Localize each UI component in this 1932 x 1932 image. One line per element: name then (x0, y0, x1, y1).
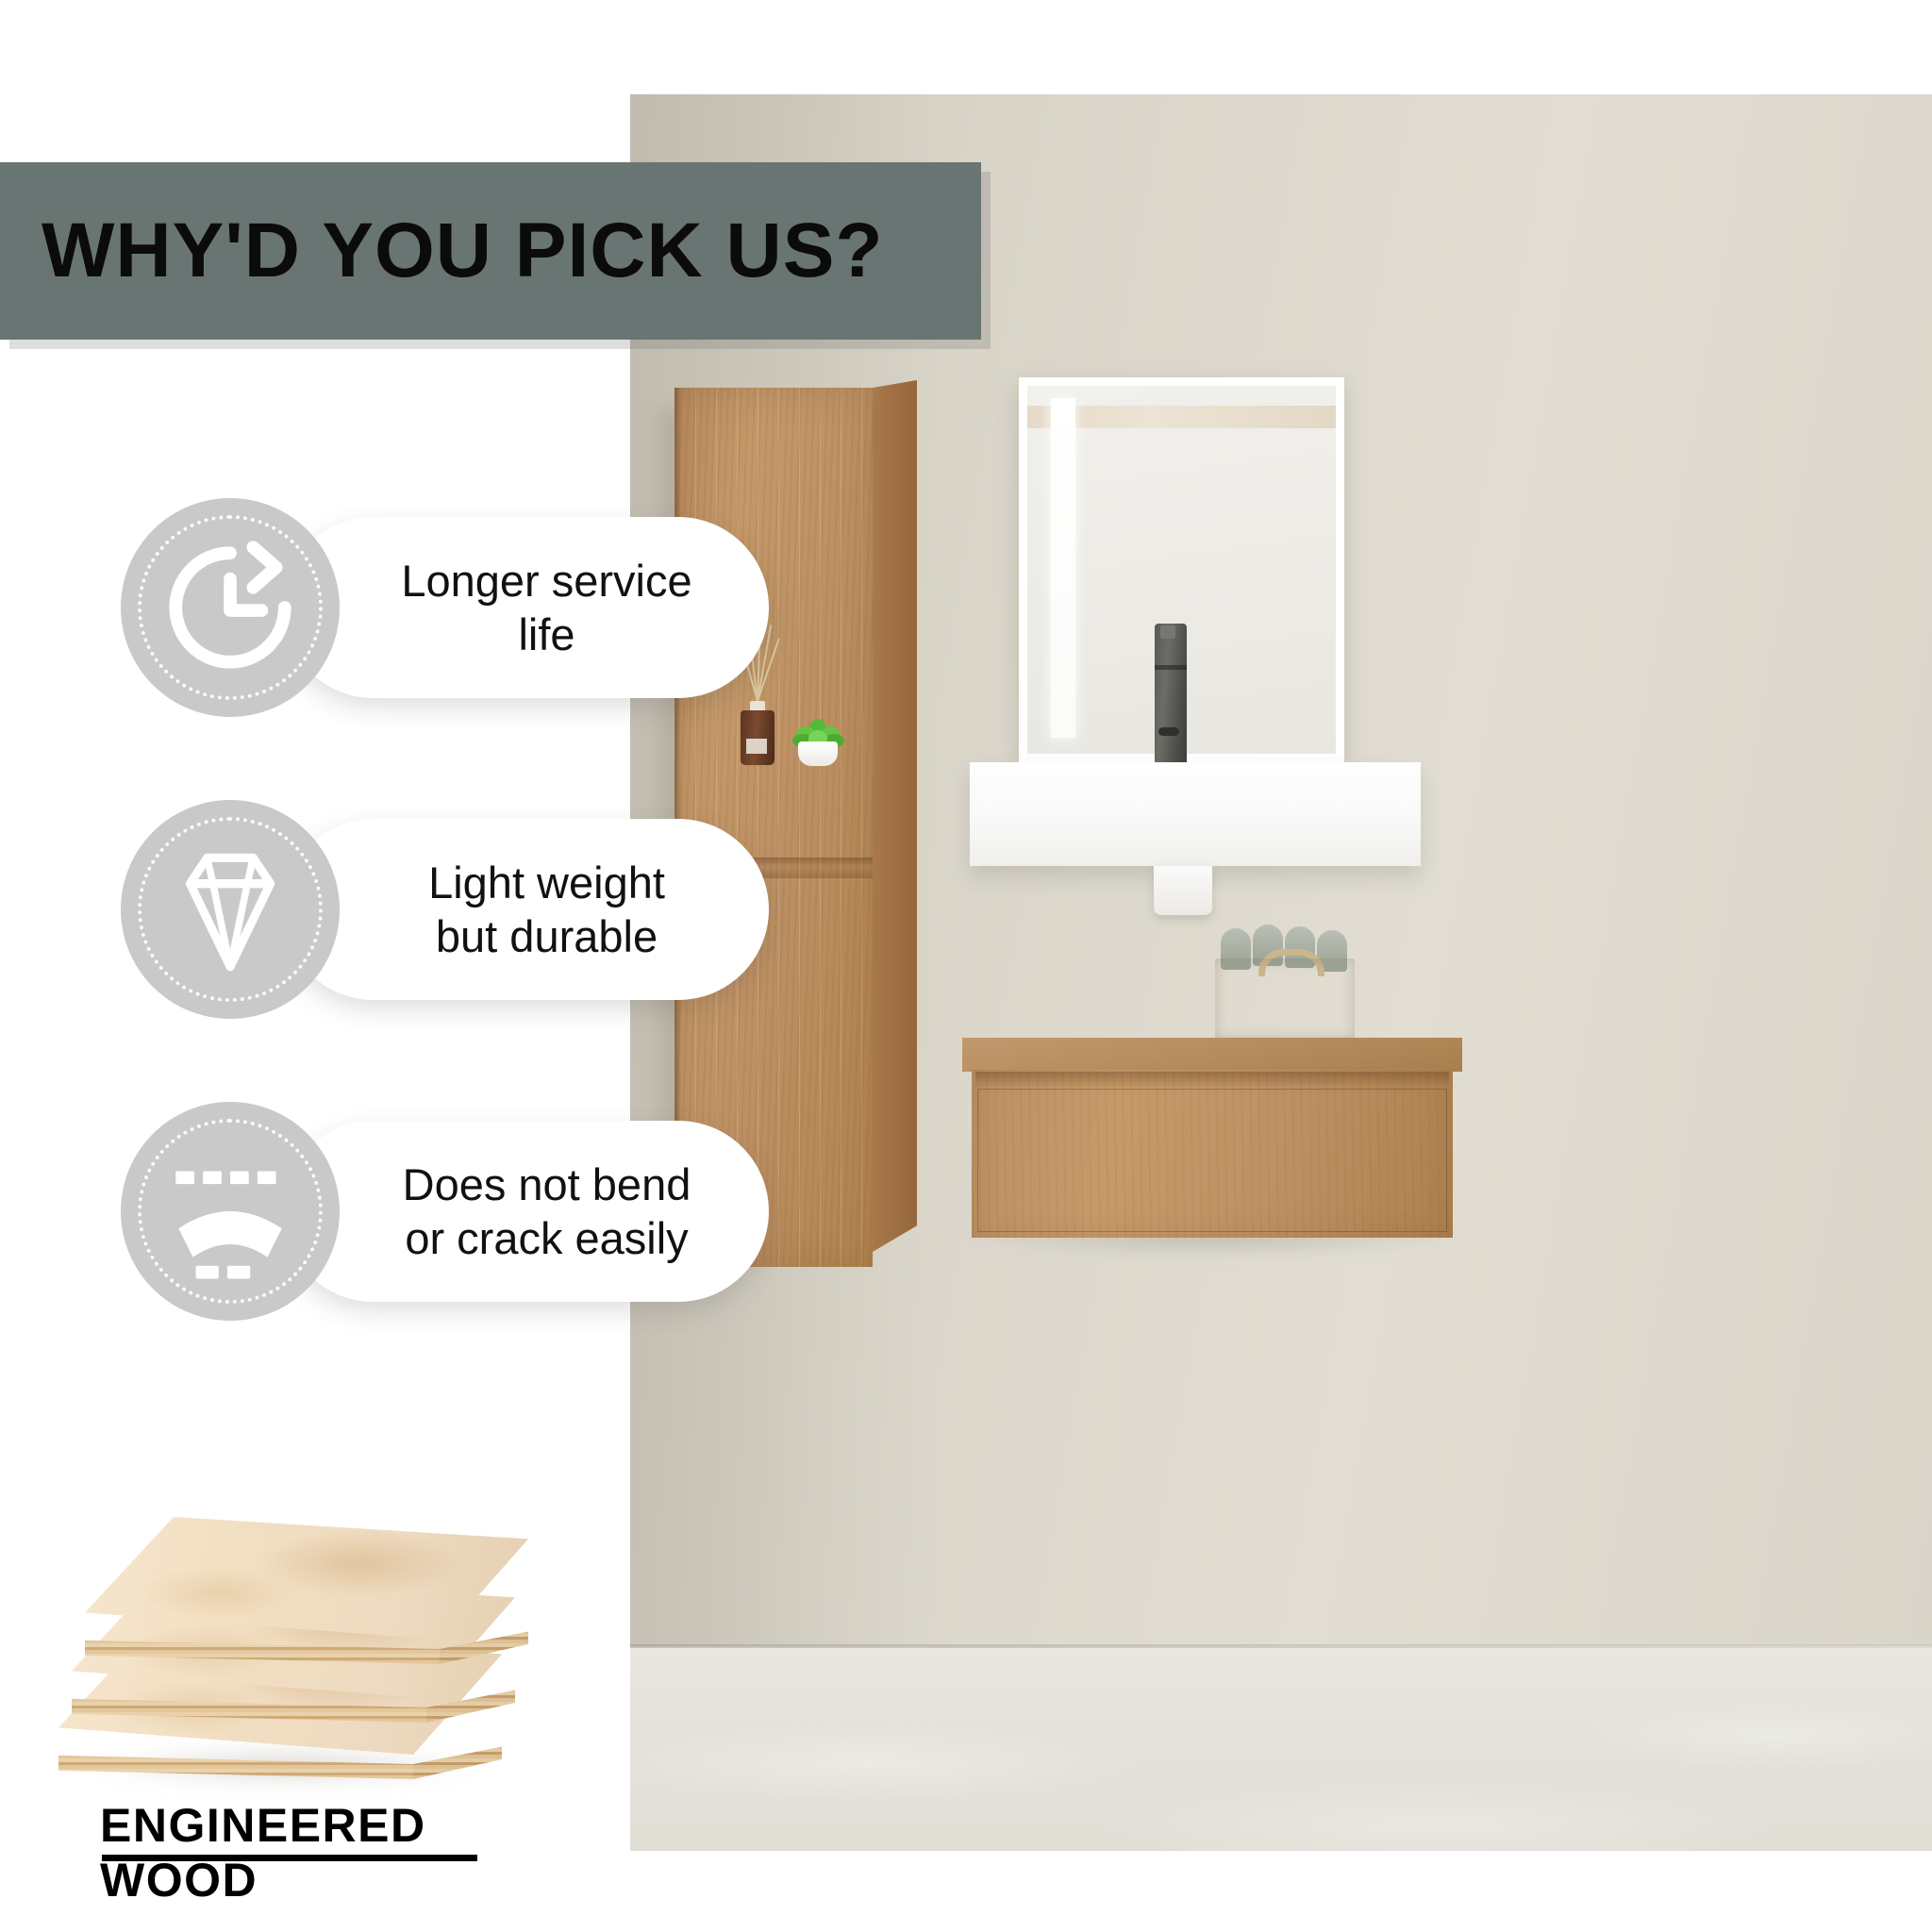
feature-badge-3 (121, 1102, 340, 1321)
page-title: WHY'D YOU PICK US? (42, 212, 884, 290)
feature-pill-2[interactable]: Light weightbut durable (283, 819, 769, 1000)
bathroom-photo (630, 94, 1932, 1851)
feature-row-1: Longer servicelife (0, 498, 783, 717)
material-label: ENGINEERED WOOD (100, 1798, 572, 1907)
cabinet-side-panel (873, 380, 917, 1252)
plywood-stack (49, 1481, 540, 1783)
faucet-ring (1155, 665, 1187, 670)
wood-vanity-drawer (962, 1038, 1462, 1238)
infographic-canvas: WHY'D YOU PICK US? Longer servicelife Li… (0, 0, 1932, 1932)
vanity-recess-lip (975, 1072, 1449, 1087)
feature-badge-1 (121, 498, 340, 717)
feature-pill-3[interactable]: Does not bendor crack easily (283, 1121, 769, 1302)
diffuser-bottle (741, 710, 774, 765)
header-banner: WHY'D YOU PICK US? (0, 162, 981, 340)
plywood-face (85, 1517, 528, 1640)
floor-texture (630, 1651, 1932, 1851)
feature-row-2: Light weightbut durable (0, 800, 783, 1019)
basin-drain-pipe (1154, 866, 1212, 915)
plywood-sheet-top (85, 1517, 528, 1640)
mirror-light-strip (1051, 398, 1075, 738)
tall-faucet (1155, 624, 1187, 770)
wall-hung-basin (970, 762, 1421, 866)
feature-pill-1[interactable]: Longer servicelife (283, 517, 769, 698)
floor-wall-joint (630, 1644, 1932, 1648)
clock-rotate-icon (158, 536, 302, 679)
diamond-icon (158, 838, 302, 981)
feature-badge-2 (121, 800, 340, 1019)
vanity-top-surface (962, 1038, 1462, 1072)
potted-succulent (792, 719, 843, 766)
material-label-underline (102, 1855, 477, 1861)
feature-row-3: Does not bendor crack easily (0, 1102, 783, 1321)
basket-body (1215, 958, 1355, 1040)
feature-label-1: Longer servicelife (401, 554, 691, 662)
diffuser-label (746, 739, 767, 754)
faucet-cap (1160, 625, 1175, 639)
bending-plank-icon (158, 1140, 302, 1283)
woven-basket (1215, 924, 1355, 1040)
basin-top-edge (970, 762, 1421, 768)
faucet-lever (1158, 727, 1179, 736)
feature-label-3: Does not bendor crack easily (403, 1158, 691, 1266)
vanity-drawer-front (977, 1089, 1447, 1232)
plant-pot (798, 741, 838, 766)
feature-label-2: Light weightbut durable (428, 856, 665, 964)
